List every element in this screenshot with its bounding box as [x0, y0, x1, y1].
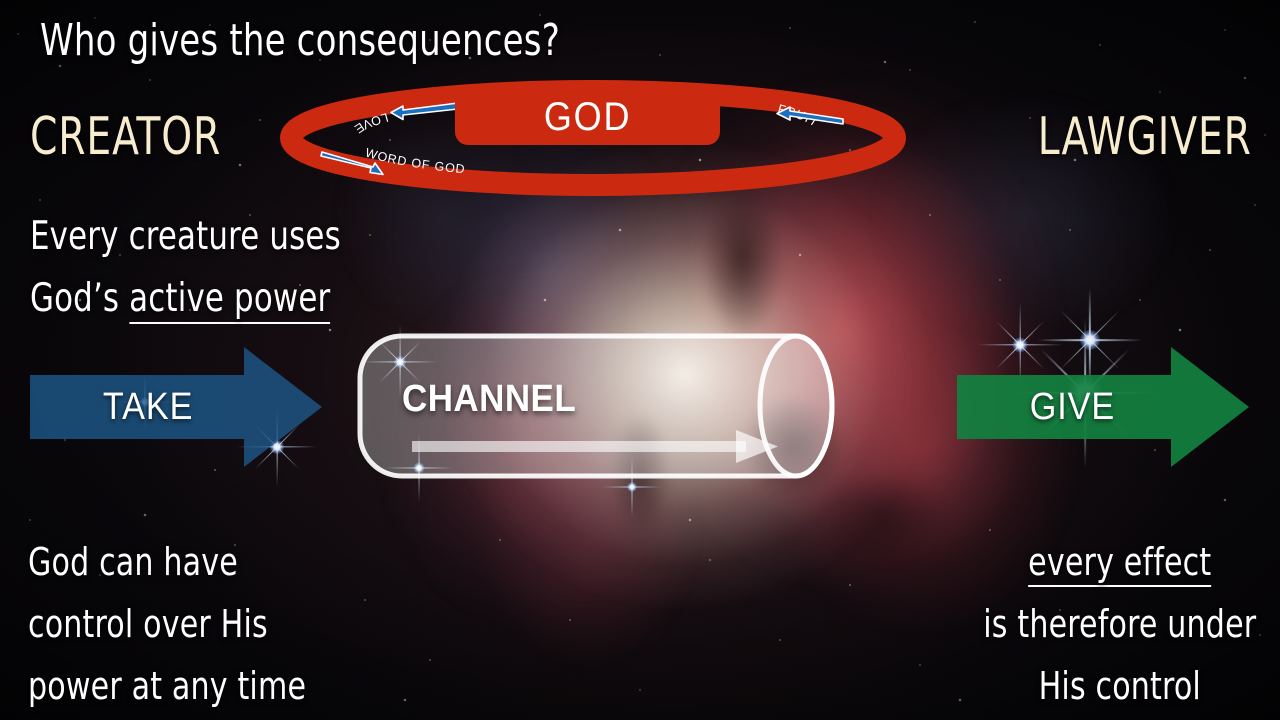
statement-active-power: Every creature uses God’s active power: [30, 206, 341, 329]
bottom-right-text: every effect is therefore under His cont…: [983, 532, 1256, 718]
page-title: Who gives the consequences?: [40, 18, 560, 64]
god-box: GOD: [455, 89, 720, 145]
bottom-left-line-1: God can have: [28, 532, 306, 594]
slide-canvas: Who gives the consequences? CREATOR LAWG…: [0, 0, 1280, 720]
give-arrow-shape: [957, 347, 1249, 467]
give-arrow: GIVE: [955, 345, 1251, 469]
statement-line-2-prefix: God’s: [30, 276, 129, 321]
role-label-lawgiver: LAWGIVER: [1038, 107, 1252, 167]
take-arrow-svg: [28, 345, 324, 469]
statement-line-2-underlined: active power: [129, 276, 330, 324]
channel-opening: [760, 336, 832, 476]
god-box-label: GOD: [544, 95, 631, 140]
give-arrow-svg: [955, 345, 1251, 469]
bottom-right-line-1: every effect: [983, 532, 1256, 594]
take-arrow-shape: [30, 347, 322, 467]
statement-line-2: God’s active power: [30, 268, 341, 330]
channel-cylinder: CHANNEL: [356, 330, 868, 482]
bottom-right-line-1-underlined: every effect: [1028, 540, 1211, 587]
take-arrow: TAKE: [28, 345, 324, 469]
bottom-right-line-3: His control: [983, 656, 1256, 718]
bottom-left-line-2: control over His: [28, 594, 306, 656]
bottom-left-line-3: power at any time: [28, 656, 306, 718]
bottom-right-line-2: is therefore under: [983, 594, 1256, 656]
bottom-left-text: God can have control over His power at a…: [28, 532, 306, 718]
role-label-creator: CREATOR: [30, 107, 221, 167]
statement-line-1: Every creature uses: [30, 206, 341, 268]
channel-label: CHANNEL: [402, 378, 576, 421]
